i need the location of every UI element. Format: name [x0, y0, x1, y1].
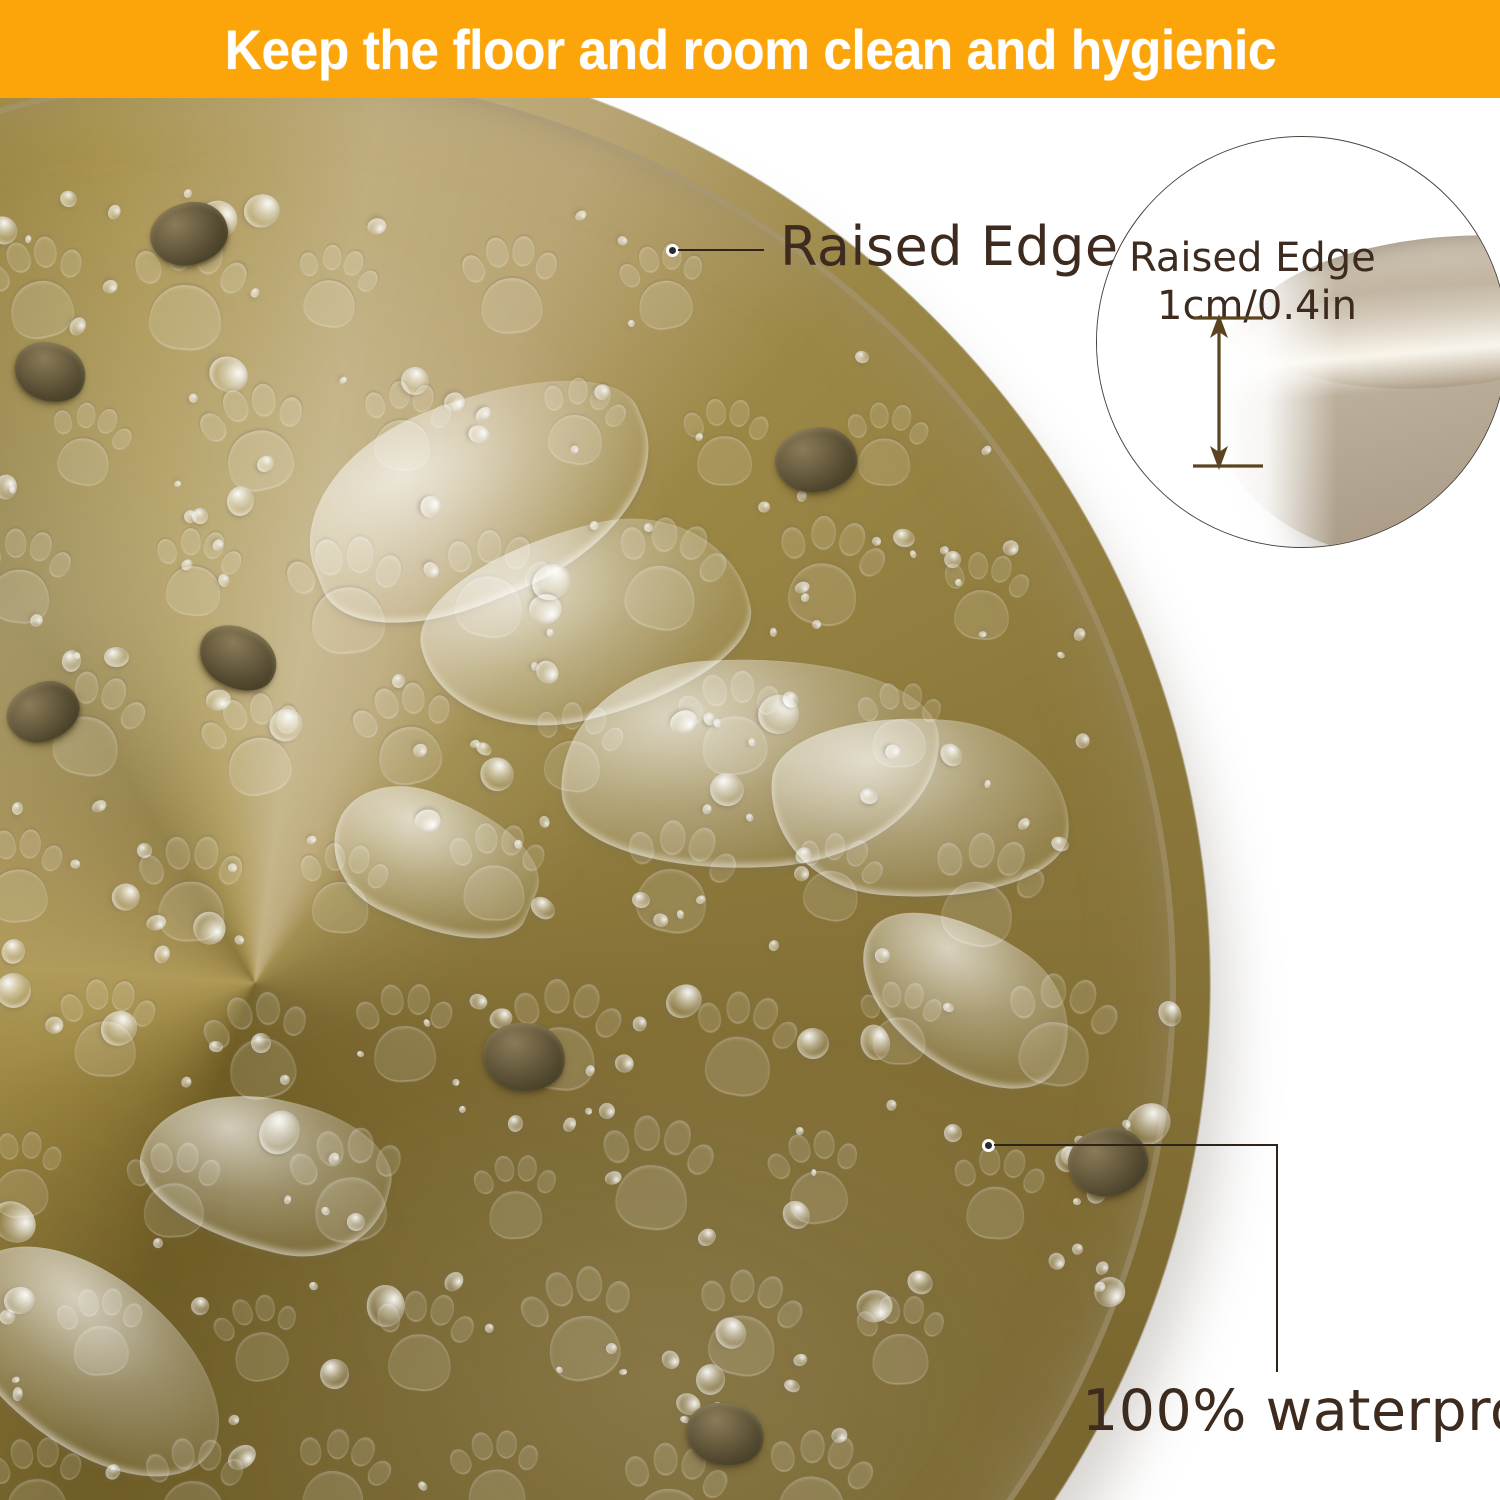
header-banner: Keep the floor and room clean and hygien…	[0, 0, 1500, 98]
water-droplet	[474, 751, 521, 798]
water-droplet	[1046, 1251, 1067, 1272]
water-droplet	[853, 349, 870, 365]
water-droplet	[182, 187, 194, 199]
water-droplet	[1093, 1259, 1111, 1278]
water-droplet	[365, 216, 388, 237]
paw-print-emboss	[759, 1122, 866, 1234]
water-droplet	[874, 948, 890, 964]
water-droplet	[632, 1016, 646, 1031]
water-droplet	[173, 479, 182, 488]
paw-print-emboss	[753, 1420, 877, 1500]
water-droplet	[909, 550, 918, 560]
water-droplet	[616, 234, 629, 247]
paw-print-emboss	[680, 396, 765, 488]
water-droplet	[561, 1115, 579, 1134]
water-droplet	[546, 628, 554, 636]
paw-print-emboss	[206, 1287, 307, 1393]
water-droplet	[886, 1100, 896, 1111]
paw-print-emboss	[947, 1142, 1044, 1245]
water-droplet	[458, 1104, 468, 1114]
paw-print-emboss	[37, 393, 135, 496]
water-droplet	[0, 973, 31, 1009]
water-droplet	[1072, 626, 1087, 642]
paw-print-emboss	[279, 1418, 396, 1500]
water-droplet	[249, 286, 262, 299]
water-droplet	[507, 1114, 525, 1133]
water-droplet	[308, 1280, 320, 1292]
dimension-arrow	[1097, 137, 1500, 548]
water-droplet	[770, 628, 777, 638]
water-droplet	[57, 187, 80, 210]
water-droplet	[574, 208, 589, 222]
water-droplet	[1073, 1198, 1082, 1205]
water-droplet	[758, 500, 771, 512]
water-droplet	[70, 860, 80, 869]
paw-print-emboss	[469, 1151, 556, 1244]
product-infographic: Keep the floor and room clean and hygien…	[0, 0, 1500, 1500]
paw-print-emboss	[444, 1425, 542, 1500]
water-droplet	[417, 1480, 429, 1492]
water-droplet	[0, 936, 29, 968]
water-droplet	[767, 938, 781, 952]
water-droplet	[468, 992, 490, 1013]
paw-print-emboss	[510, 1256, 644, 1396]
water-droplet	[795, 1026, 830, 1060]
water-droplet	[11, 801, 25, 816]
water-droplet	[1057, 651, 1066, 660]
water-droplet	[941, 1122, 964, 1145]
water-droplet	[1154, 997, 1185, 1030]
water-droplet	[101, 278, 120, 296]
water-droplet	[451, 1079, 460, 1087]
water-droplet	[658, 1347, 683, 1373]
water-droplet	[91, 798, 109, 814]
paw-print-emboss	[352, 980, 453, 1088]
water-droplet	[475, 739, 495, 758]
water-droplet	[338, 375, 348, 385]
water-droplet	[180, 1076, 193, 1089]
raised-edge-detail-inset: Raised Edge 1cm/0.4in	[1096, 136, 1500, 548]
water-droplet	[137, 842, 152, 857]
banner-headline: Keep the floor and room clean and hygien…	[224, 17, 1275, 82]
water-droplet	[104, 647, 128, 667]
water-droplet	[979, 443, 993, 456]
paw-print-emboss	[343, 672, 463, 798]
water-droplet	[318, 1358, 349, 1390]
water-droplet	[891, 527, 916, 549]
paw-print-emboss	[761, 506, 887, 639]
water-droplet	[611, 1051, 637, 1076]
water-puddle	[126, 1070, 405, 1276]
water-droplet	[1072, 1244, 1083, 1256]
water-droplet	[484, 1323, 494, 1334]
paw-print-emboss	[456, 231, 559, 341]
water-droplet	[240, 190, 284, 232]
paw-print-emboss	[146, 522, 242, 624]
water-droplet	[1075, 733, 1091, 750]
water-droplet	[106, 203, 123, 221]
water-droplet	[791, 1351, 809, 1368]
paw-print-emboss	[190, 374, 317, 507]
water-droplet	[1089, 1272, 1129, 1311]
paw-print-emboss	[0, 824, 64, 929]
water-droplet	[584, 1108, 591, 1115]
water-droplet	[226, 1413, 241, 1428]
water-droplet	[782, 1378, 801, 1395]
paw-print-emboss	[283, 236, 381, 339]
